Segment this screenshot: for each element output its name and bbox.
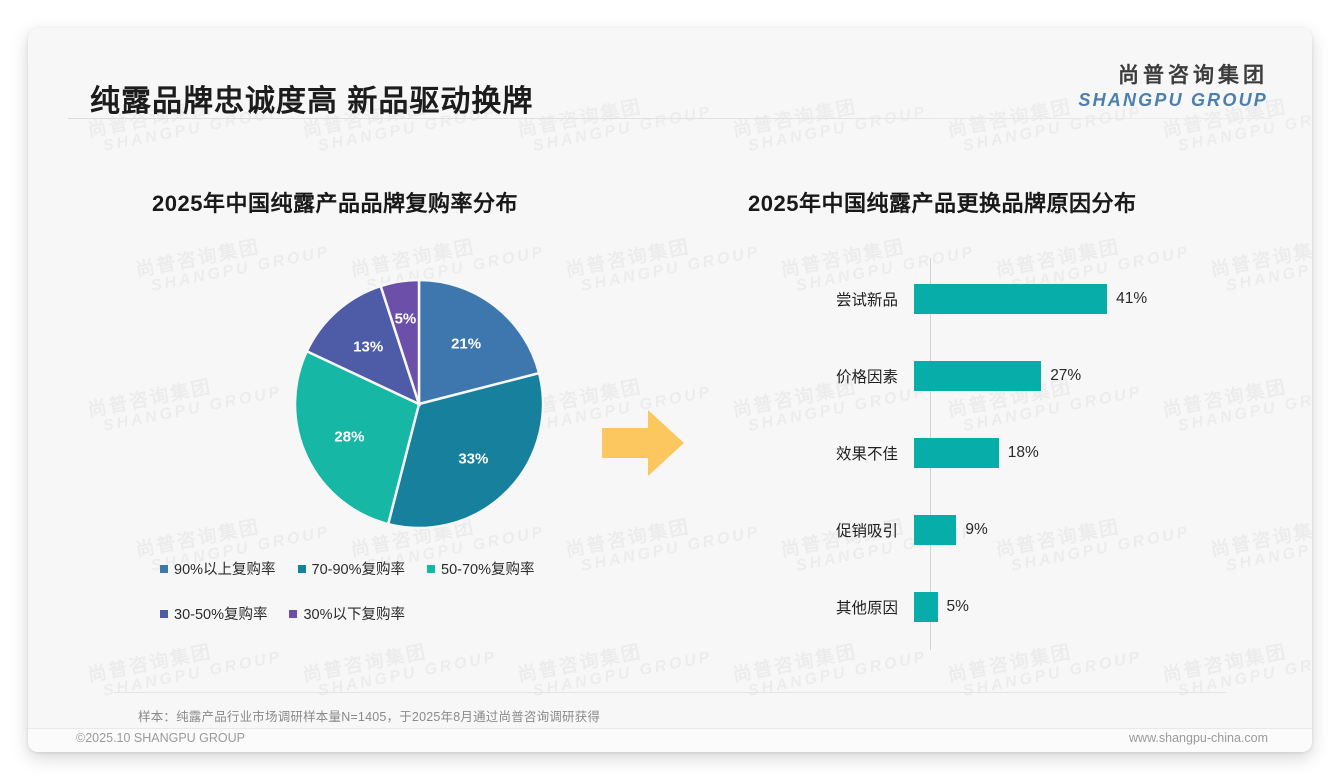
pie-legend-label: 70-90%复购率 bbox=[312, 558, 405, 579]
pie-slice-label: 33% bbox=[458, 450, 488, 467]
slide-footer: ©2025.10 SHANGPU GROUP www.shangpu-china… bbox=[28, 729, 1312, 752]
pie-legend-label: 90%以上复购率 bbox=[174, 558, 276, 579]
pie-legend-item[interactable]: 90%以上复购率 bbox=[160, 558, 276, 579]
bar-value-label: 5% bbox=[947, 598, 969, 616]
pie-slice-label: 28% bbox=[334, 429, 364, 446]
pie-legend-item[interactable]: 30%以下复购率 bbox=[289, 603, 405, 624]
source-divider bbox=[114, 692, 1226, 693]
slide-header: 纯露品牌忠诚度高 新品驱动换牌 尚普咨询集团 SHANGPU GROUP bbox=[28, 28, 1312, 120]
legend-swatch-icon bbox=[298, 565, 306, 573]
right-arrow-svg bbox=[600, 406, 686, 480]
legend-swatch-icon bbox=[160, 610, 168, 618]
bar-chart-panel: 2025年中国纯露产品更换品牌原因分布 尝试新品41%价格因素27%效果不佳18… bbox=[728, 158, 1288, 668]
pie-slice-label: 5% bbox=[395, 310, 417, 327]
bar-track: 27% bbox=[914, 361, 1288, 391]
pie-slice-group bbox=[295, 280, 543, 528]
bar-category-label: 效果不佳 bbox=[728, 442, 914, 464]
brand-name-en: SHANGPU GROUP bbox=[1078, 90, 1268, 111]
bar-fill[interactable] bbox=[914, 438, 999, 468]
bar-fill[interactable] bbox=[914, 361, 1041, 391]
bar-row[interactable]: 促销吸引9% bbox=[728, 511, 1288, 549]
pie-chart: 21%33%28%13%5% bbox=[293, 278, 545, 530]
bar-category-label: 价格因素 bbox=[728, 365, 914, 387]
pie-legend-label: 30%以下复购率 bbox=[303, 603, 405, 624]
pie-chart-panel: 2025年中国纯露产品品牌复购率分布 21%33%28%13%5% 90%以上复… bbox=[90, 158, 670, 668]
brand-logo: 尚普咨询集团 SHANGPU GROUP bbox=[1078, 64, 1268, 111]
bar-value-label: 41% bbox=[1116, 290, 1147, 308]
bar-track: 9% bbox=[914, 515, 1288, 545]
bar-value-label: 27% bbox=[1050, 367, 1081, 385]
footer-copyright: ©2025.10 SHANGPU GROUP bbox=[76, 731, 245, 745]
bar-chart: 尝试新品41%价格因素27%效果不佳18%促销吸引9%其他原因5% bbox=[728, 258, 1288, 678]
bar-value-label: 18% bbox=[1008, 444, 1039, 462]
pie-chart-title: 2025年中国纯露产品品牌复购率分布 bbox=[152, 186, 518, 218]
bar-chart-title: 2025年中国纯露产品更换品牌原因分布 bbox=[748, 186, 1136, 218]
pie-legend-item[interactable]: 70-90%复购率 bbox=[298, 558, 405, 579]
legend-swatch-icon bbox=[289, 610, 297, 618]
pie-legend-label: 50-70%复购率 bbox=[441, 558, 534, 579]
bar-category-label: 尝试新品 bbox=[728, 288, 914, 310]
pie-legend-label: 30-50%复购率 bbox=[174, 603, 267, 624]
slide-canvas: 尚普咨询集团SHANGPU GROUP尚普咨询集团SHANGPU GROUP尚普… bbox=[28, 28, 1312, 752]
pie-chart-svg: 21%33%28%13%5% bbox=[293, 278, 545, 530]
legend-swatch-icon bbox=[427, 565, 435, 573]
header-divider bbox=[68, 118, 1272, 119]
bar-row[interactable]: 价格因素27% bbox=[728, 357, 1288, 395]
pie-slice-label: 13% bbox=[353, 338, 383, 355]
pie-legend-row-2: 30-50%复购率30%以下复购率 bbox=[160, 603, 640, 624]
bar-track: 18% bbox=[914, 438, 1288, 468]
bar-fill[interactable] bbox=[914, 592, 938, 622]
bar-track: 5% bbox=[914, 592, 1288, 622]
legend-swatch-icon bbox=[160, 565, 168, 573]
bar-value-label: 9% bbox=[965, 521, 987, 539]
bar-category-label: 促销吸引 bbox=[728, 519, 914, 541]
bar-row[interactable]: 尝试新品41% bbox=[728, 280, 1288, 318]
brand-name-cn: 尚普咨询集团 bbox=[1078, 64, 1268, 89]
right-arrow-icon bbox=[600, 406, 686, 485]
source-note: 样本：纯露产品行业市场调研样本量N=1405，于2025年8月通过尚普咨询调研获… bbox=[138, 706, 600, 725]
bar-fill[interactable] bbox=[914, 284, 1107, 314]
pie-slice-label: 21% bbox=[451, 335, 481, 352]
pie-legend-item[interactable]: 30-50%复购率 bbox=[160, 603, 267, 624]
pie-legend: 90%以上复购率70-90%复购率50-70%复购率 30-50%复购率30%以… bbox=[160, 558, 640, 648]
pie-legend-item[interactable]: 50-70%复购率 bbox=[427, 558, 534, 579]
pie-legend-row-1: 90%以上复购率70-90%复购率50-70%复购率 bbox=[160, 558, 640, 579]
bar-category-label: 其他原因 bbox=[728, 596, 914, 618]
bar-track: 41% bbox=[914, 284, 1288, 314]
footer-website[interactable]: www.shangpu-china.com bbox=[1129, 731, 1268, 745]
bar-row[interactable]: 效果不佳18% bbox=[728, 434, 1288, 472]
page-title: 纯露品牌忠诚度高 新品驱动换牌 bbox=[90, 76, 533, 120]
bar-row[interactable]: 其他原因5% bbox=[728, 588, 1288, 626]
bar-fill[interactable] bbox=[914, 515, 956, 545]
